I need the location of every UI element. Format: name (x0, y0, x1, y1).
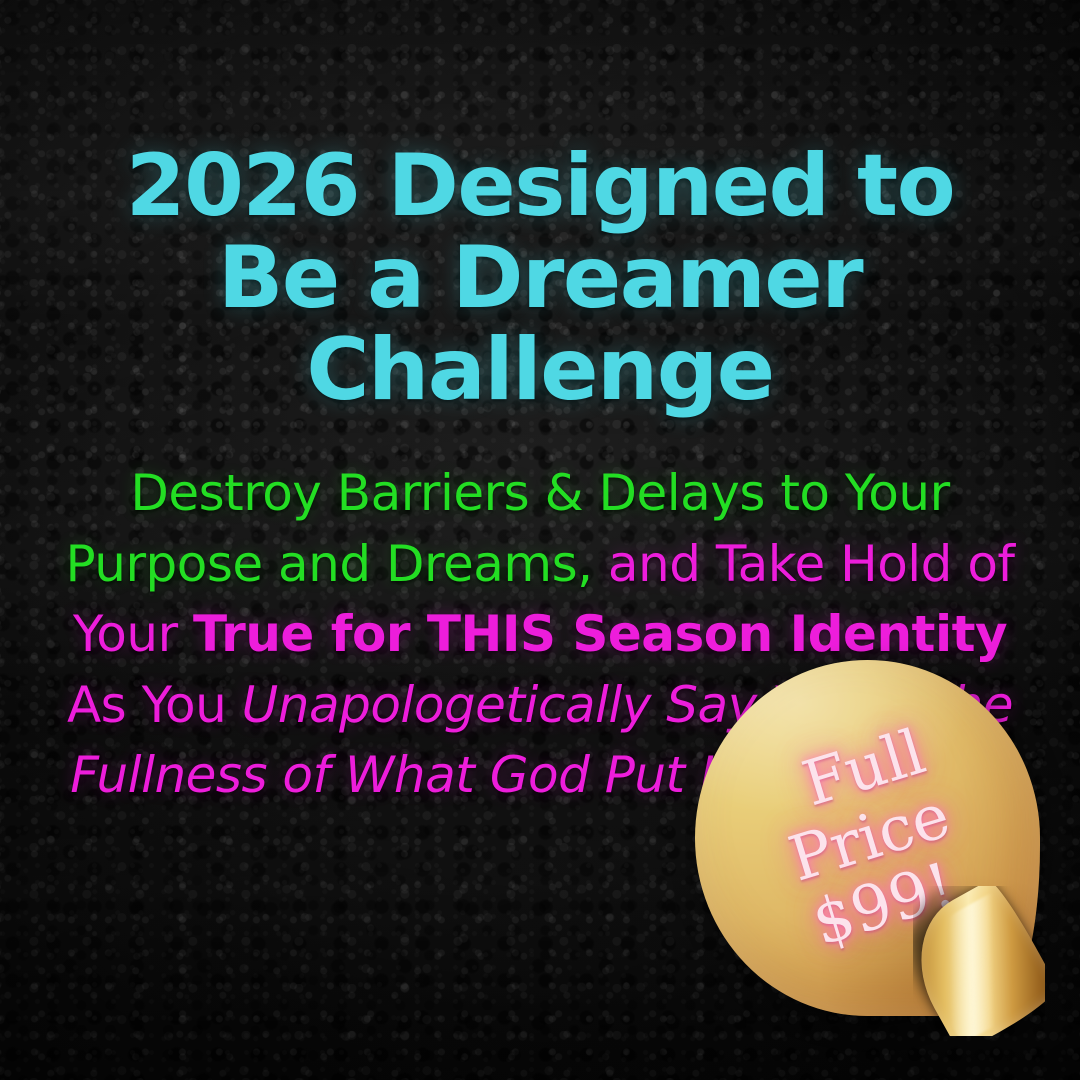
headline-line-2: Be a Dreamer (48, 232, 1032, 324)
price-sticker[interactable]: Full Price $99! (695, 660, 1045, 1038)
poster-canvas: 2026 Designed to Be a Dreamer Challenge … (0, 0, 1080, 1080)
headline-line-3: Challenge (48, 324, 1032, 416)
subtitle-segment-magenta-2: As You (67, 676, 242, 734)
sticker-face (695, 660, 1040, 1016)
sticker-gloss-overlay (695, 660, 1040, 1016)
headline-line-1: 2026 Designed to (48, 140, 1032, 232)
page-title: 2026 Designed to Be a Dreamer Challenge (0, 0, 1080, 416)
subtitle-segment-bold: True for THIS Season Identity (193, 605, 1007, 663)
